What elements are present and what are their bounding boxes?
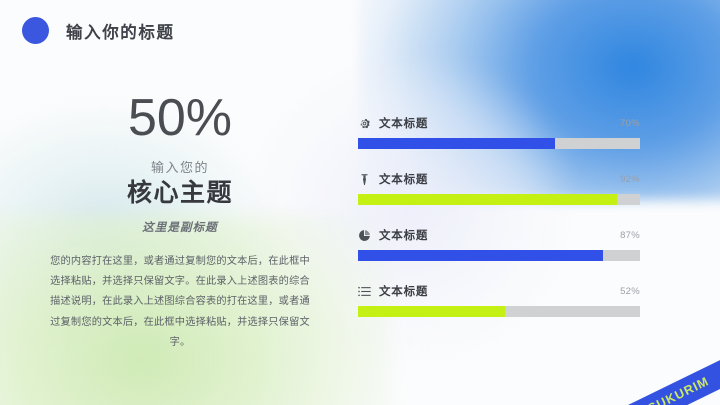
progress-bar-list: 文本标题 70% 文本标题 92%	[358, 115, 640, 317]
slide-canvas: 输入你的标题 50% 输入您的 核心主题 这里是副标题 您的内容打在这里，或者通…	[0, 0, 720, 405]
bar-item[interactable]: 文本标题 52%	[358, 283, 640, 317]
headline-percentage: 50%	[48, 92, 312, 144]
location-pin-icon	[358, 173, 371, 186]
bar-label: 文本标题	[379, 171, 428, 187]
bar-header: 文本标题 70%	[358, 115, 640, 131]
bar-track	[358, 250, 640, 261]
watermark-text: AISUKURIM	[633, 374, 712, 405]
bar-fill	[358, 194, 617, 205]
bar-item[interactable]: 文本标题 87%	[358, 227, 640, 261]
pie-chart-icon	[358, 229, 371, 242]
slide-header: 输入你的标题	[22, 17, 175, 44]
left-text-panel: 50% 输入您的 核心主题 这里是副标题 您的内容打在这里，或者通过复制您的文本…	[48, 92, 312, 354]
bar-fill	[358, 250, 603, 261]
bar-item[interactable]: 文本标题 70%	[358, 115, 640, 149]
bar-percentage: 52%	[620, 286, 640, 297]
bar-percentage: 87%	[620, 230, 640, 241]
bar-label: 文本标题	[379, 227, 428, 243]
bar-item[interactable]: 文本标题 92%	[358, 171, 640, 205]
header-bullet-icon	[22, 17, 49, 44]
bar-header: 文本标题 52%	[358, 283, 640, 299]
bar-fill	[358, 306, 505, 317]
bar-percentage: 70%	[620, 118, 640, 129]
bar-label: 文本标题	[379, 283, 428, 299]
sub-title: 这里是副标题	[48, 219, 312, 235]
bar-track	[358, 194, 640, 205]
page-title: 输入你的标题	[66, 19, 175, 43]
watermark-banner: AISUKURIM	[582, 345, 720, 405]
core-title: 核心主题	[48, 178, 312, 209]
gear-icon	[358, 117, 371, 130]
bar-fill	[358, 138, 555, 149]
body-paragraph: 您的内容打在这里，或者通过复制您的文本后，在此框中选择粘贴，并选择只保留文字。在…	[48, 252, 312, 354]
bar-header: 文本标题 87%	[358, 227, 640, 243]
bar-track	[358, 306, 640, 317]
bar-label: 文本标题	[379, 115, 428, 131]
bar-header: 文本标题 92%	[358, 171, 640, 187]
bar-percentage: 92%	[620, 174, 640, 185]
pre-title-label: 输入您的	[48, 157, 312, 176]
list-icon	[358, 285, 371, 298]
bar-track	[358, 138, 640, 149]
